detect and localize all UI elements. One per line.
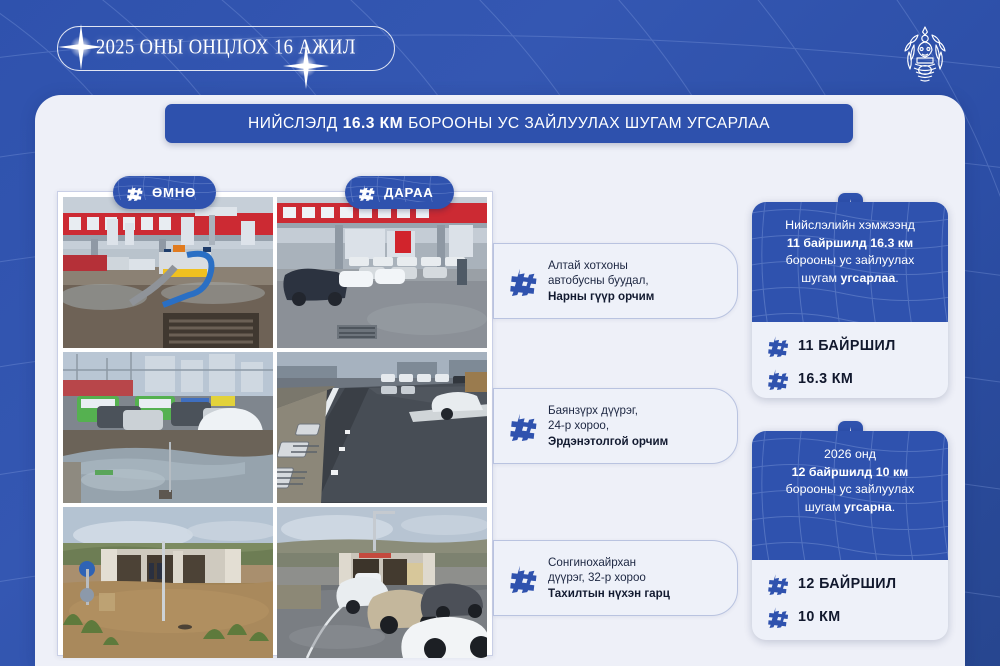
- before-label: ӨМНӨ: [152, 185, 196, 200]
- stat-card-values: 12 БАЙРШИЛ 10 КМ: [752, 560, 948, 640]
- stat-card-planned: 2026 онд 12 байршилд 10 км борооны ус за…: [752, 431, 948, 640]
- location-line-2: 24-р хороо,: [548, 418, 668, 433]
- photo-row: [63, 352, 487, 503]
- location-card-1: Алтай хотхоны автобусны буудал, Нарны гү…: [493, 243, 738, 319]
- stat-card-current: Нийслэлийн хэмжээнд 11 байршилд 16.3 км …: [752, 202, 948, 398]
- stat-text-bold-2: угсарлаа: [841, 271, 896, 285]
- after-label: ДАРАА: [384, 185, 434, 200]
- stat-text-line-2: борооны ус зайлуулах: [765, 252, 935, 270]
- photo-after-repaired-road: [277, 197, 487, 348]
- page-title-part1: НИЙСЛЭЛД: [248, 115, 338, 133]
- stat-card-header: 2026 онд 12 байршилд 10 км борооны ус за…: [752, 431, 948, 560]
- photo-before-flooded-street: [63, 352, 273, 503]
- stat-value: 12 БАЙРШИЛ: [798, 576, 896, 592]
- photo-after-new-asphalt-drainage: [277, 352, 487, 503]
- hash-icon: [768, 335, 790, 357]
- photo-before-bus-stop: [63, 197, 273, 348]
- stat-value: 11 БАЙРШИЛ: [798, 338, 896, 354]
- ulaanbaatar-city-emblem: [897, 24, 953, 88]
- hash-icon: [768, 368, 790, 390]
- photo-comparison-grid: [57, 191, 493, 656]
- stat-text-line-3-pre: шугам: [801, 271, 840, 285]
- stat-value: 16.3 КМ: [798, 371, 853, 387]
- stat-card-values: 11 БАЙРШИЛ 16.3 КМ: [752, 322, 948, 398]
- location-card-3: Сонгинохайрхан дүүрэг, 32-р хороо Тахилт…: [493, 540, 738, 616]
- before-label-pill: ӨМНӨ: [113, 176, 216, 209]
- location-line-2: дүүрэг, 32-р хороо: [548, 570, 670, 585]
- stat-text-bold-1: 12 байршилд 10 км: [792, 465, 909, 479]
- photo-after-dry-underpass-traffic: [277, 507, 487, 658]
- hash-icon: [768, 606, 790, 628]
- page-title-highlight: 16.3 КМ: [343, 115, 403, 133]
- stat-text-line-3-post: .: [892, 500, 895, 514]
- page-header: 2025 ОНЫ ОНЦЛОХ 16 АЖИЛ: [0, 0, 1000, 95]
- hash-icon: [510, 412, 539, 441]
- page-title: НИЙСЛЭЛД 16.3 КМ БОРООНЫ УС ЗАЙЛУУЛАХ ШУ…: [165, 104, 853, 143]
- stat-row: 10 КМ: [768, 600, 948, 633]
- year-badge-label: 2025 ОНЫ ОНЦЛОХ 16 АЖИЛ: [96, 37, 356, 61]
- photo-before-flooded-underpass: [63, 507, 273, 658]
- location-line-3: Эрдэнэтолгой орчим: [548, 435, 668, 448]
- location-line-1: Алтай хотхоны: [548, 258, 654, 273]
- stat-text-line-1: Нийслэлийн хэмжээнд: [765, 217, 935, 235]
- stat-text-bold-1: 11 байршилд 16.3 км: [787, 236, 913, 250]
- stat-card-header: Нийслэлийн хэмжээнд 11 байршилд 16.3 км …: [752, 202, 948, 322]
- stat-row: 12 БАЙРШИЛ: [768, 567, 948, 600]
- year-badge: 2025 ОНЫ ОНЦЛОХ 16 АЖИЛ: [57, 26, 395, 71]
- stat-text-line-2: борооны ус зайлуулах: [765, 481, 935, 499]
- location-line-2: автобусны буудал,: [548, 273, 654, 288]
- hash-icon: [510, 267, 539, 296]
- hash-icon: [768, 573, 790, 595]
- stat-text-line-1: 2026 онд: [765, 446, 935, 464]
- after-label-pill: ДАРАА: [345, 176, 454, 209]
- photo-row: [63, 507, 487, 658]
- location-line-3: Нарны гүүр орчим: [548, 290, 654, 303]
- hash-icon: [510, 564, 539, 593]
- stat-text-line-3-pre: шугам: [805, 500, 844, 514]
- stat-row: 16.3 КМ: [768, 362, 948, 395]
- location-line-1: Баянзүрх дүүрэг,: [548, 403, 668, 418]
- stat-row: 11 БАЙРШИЛ: [768, 329, 948, 362]
- page-title-part2: БОРООНЫ УС ЗАЙЛУУЛАХ ШУГАМ УГСАРЛАА: [408, 115, 770, 133]
- stat-text-line-3-post: .: [895, 271, 898, 285]
- location-line-1: Сонгинохайрхан: [548, 555, 670, 570]
- stat-value: 10 КМ: [798, 609, 841, 625]
- location-card-2: Баянзүрх дүүрэг, 24-р хороо, Эрдэнэтолго…: [493, 388, 738, 464]
- stat-text-bold-2: угсарна: [844, 500, 892, 514]
- photo-row: [63, 197, 487, 348]
- location-line-3: Тахилтын нүхэн гарц: [548, 587, 670, 600]
